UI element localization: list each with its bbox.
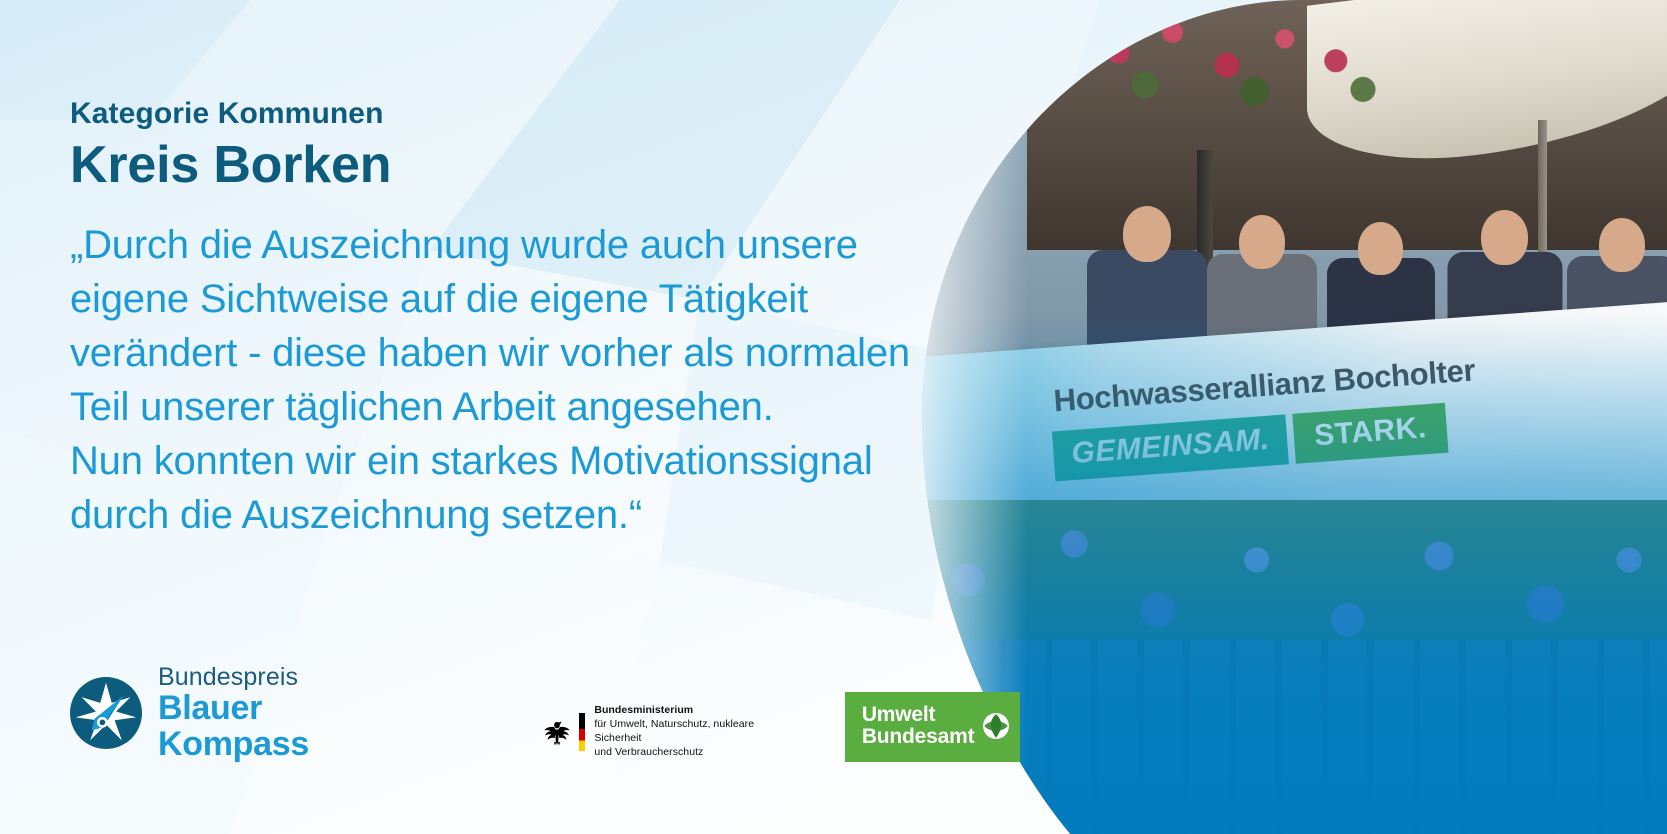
category-label: Kategorie Kommunen	[70, 98, 1070, 130]
bmuv-line2: für Umwelt, Naturschutz, nukleare Sicher…	[594, 718, 795, 746]
bmuv-line1: Bundesministerium	[594, 704, 795, 718]
bmuv-line3: und Verbraucherschutz	[594, 746, 795, 760]
bmuv-wordmark: Bundesministerium für Umwelt, Naturschut…	[594, 704, 795, 760]
banner-stage: Hochwasserallianz Bocholter GEMEINSAM. S…	[0, 0, 1667, 834]
award-quote: „Durch die Auszeichnung wurde auch unser…	[70, 218, 1070, 542]
photo-upper-flower-box	[1057, 8, 1397, 118]
federal-eagle-icon	[544, 718, 570, 746]
logo-blauer-kompass: Bundespreis Blauer Kompass	[70, 664, 409, 762]
award-text-block: Kategorie Kommunen Kreis Borken „Durch d…	[70, 98, 1070, 542]
uba-line1: Umwelt	[862, 704, 975, 727]
logo-row: Bundespreis Blauer Kompass Bundesminis	[70, 664, 1020, 762]
uba-line2: Bundesamt	[862, 726, 975, 749]
logo-umweltbundesamt: Umwelt Bundesamt	[845, 692, 1020, 762]
uba-wordmark: Umwelt Bundesamt	[862, 704, 975, 749]
german-flag-bar-icon	[579, 713, 585, 751]
blauer-kompass-line1: Bundespreis	[158, 664, 409, 690]
logo-bmuv: Bundesministerium für Umwelt, Naturschut…	[544, 704, 795, 762]
winner-title: Kreis Borken	[70, 136, 1070, 194]
uba-leaf-globe-icon	[983, 713, 1009, 739]
compass-star-icon	[70, 677, 142, 749]
blauer-kompass-line2: Blauer Kompass	[158, 691, 409, 762]
blauer-kompass-wordmark: Bundespreis Blauer Kompass	[158, 664, 409, 762]
